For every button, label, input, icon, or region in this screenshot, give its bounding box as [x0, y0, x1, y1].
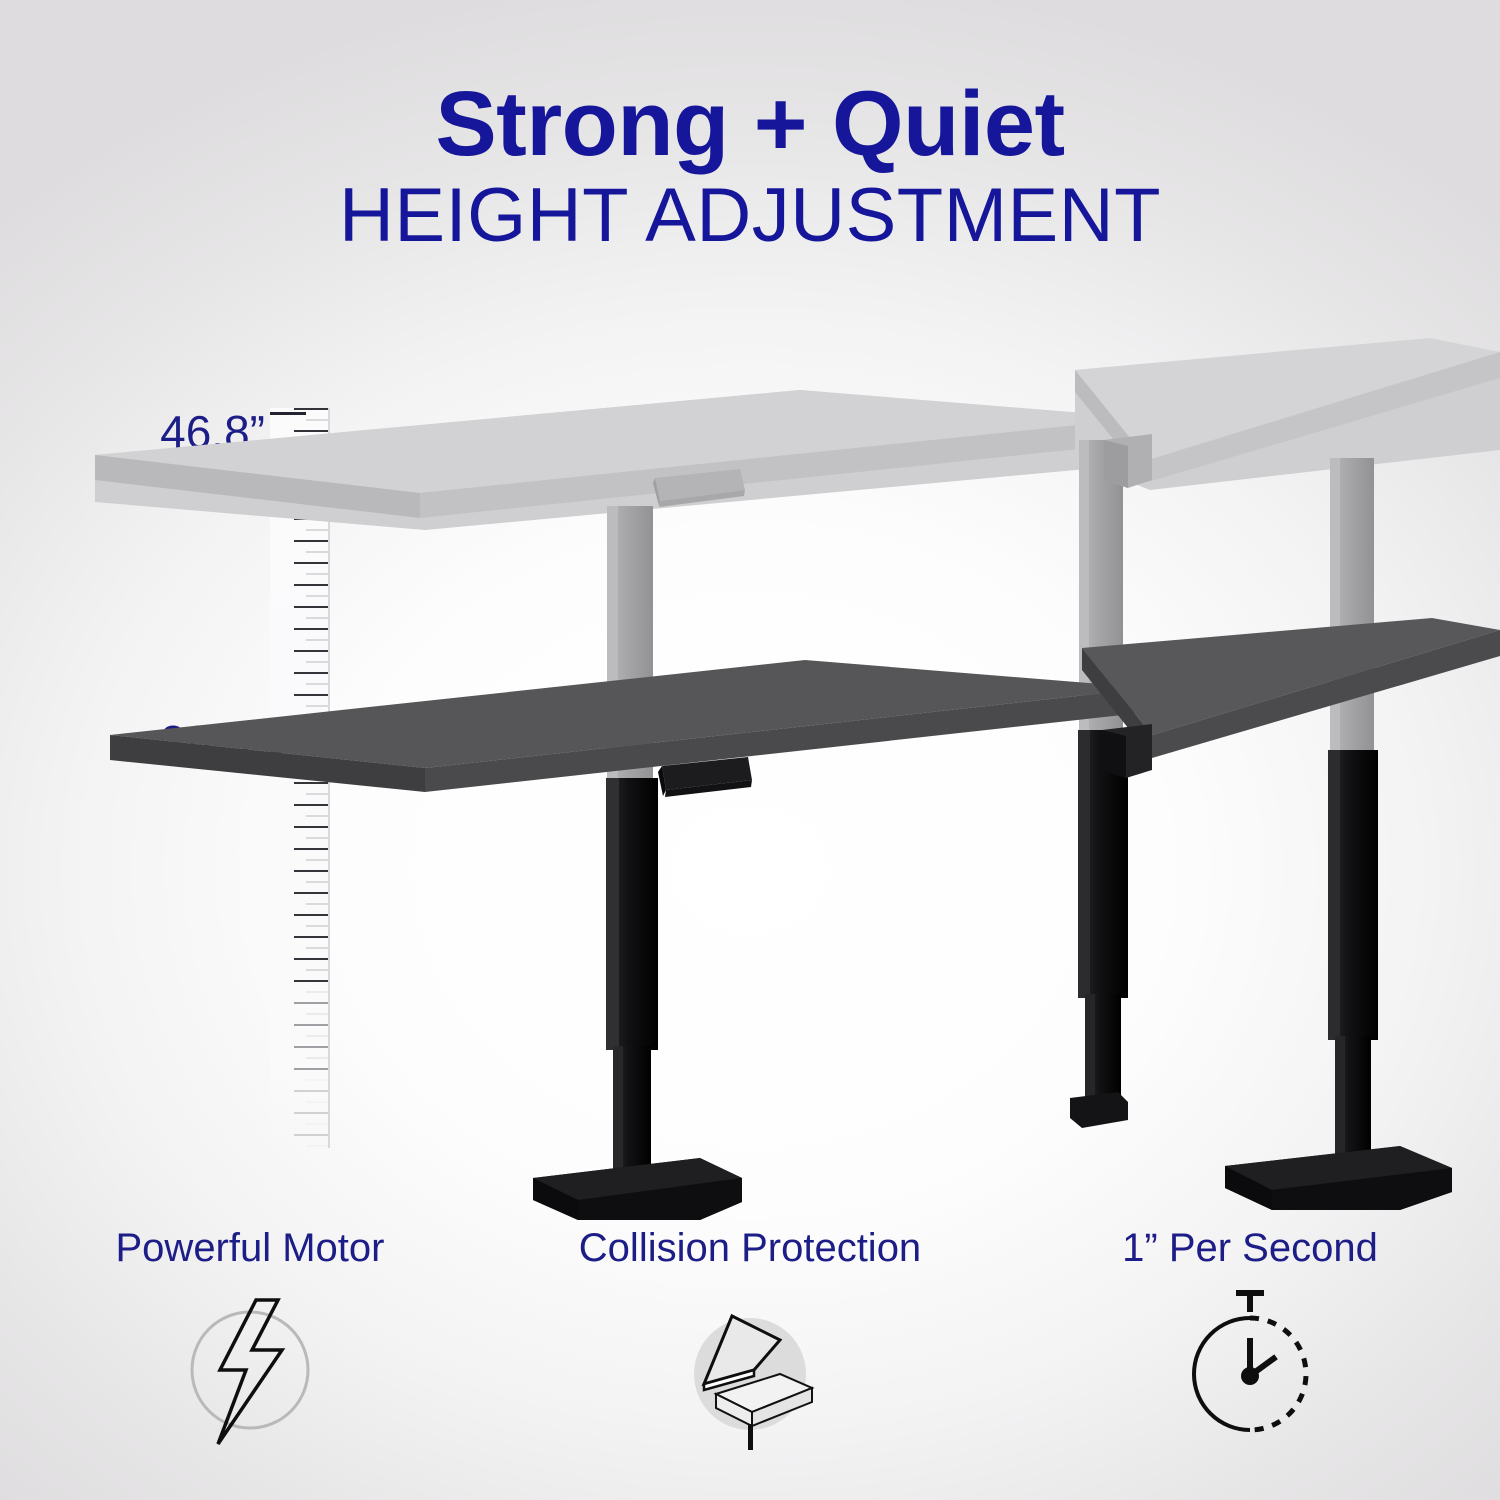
leg-lowered-corner — [1078, 730, 1128, 1108]
leg-lowered-right — [1328, 750, 1378, 1162]
headline-primary: Strong + Quiet — [0, 78, 1500, 172]
feature-label-speed: 1” Per Second — [1122, 1228, 1378, 1268]
feature-label-powerful-motor: Powerful Motor — [116, 1228, 385, 1268]
clock-icon — [1160, 1278, 1340, 1458]
feature-row: Powerful Motor Collision Protection — [0, 1228, 1500, 1500]
desk-illustration — [0, 330, 1500, 1260]
foot-corner — [1070, 1092, 1128, 1128]
corner-bracket-raised — [1104, 434, 1152, 488]
feature-collision-protection: Collision Protection — [500, 1228, 1000, 1500]
infographic-canvas: Strong + Quiet HEIGHT ADJUSTMENT 46.8” 2… — [0, 0, 1500, 1500]
desktop-raised — [95, 338, 1500, 530]
lightning-bolt-icon — [160, 1278, 340, 1458]
foot-right — [1225, 1146, 1452, 1210]
headline-block: Strong + Quiet HEIGHT ADJUSTMENT — [0, 78, 1500, 256]
headline-secondary: HEIGHT ADJUSTMENT — [0, 176, 1500, 256]
corner-bracket-lowered — [1102, 724, 1152, 778]
feature-speed: 1” Per Second — [1000, 1228, 1500, 1500]
desktop-lowered — [110, 618, 1500, 792]
leg-lowered-left — [606, 778, 658, 1186]
feature-label-collision-protection: Collision Protection — [579, 1228, 921, 1268]
collision-desk-icon — [660, 1278, 840, 1458]
foot-left — [533, 1158, 742, 1220]
feature-powerful-motor: Powerful Motor — [0, 1228, 500, 1500]
